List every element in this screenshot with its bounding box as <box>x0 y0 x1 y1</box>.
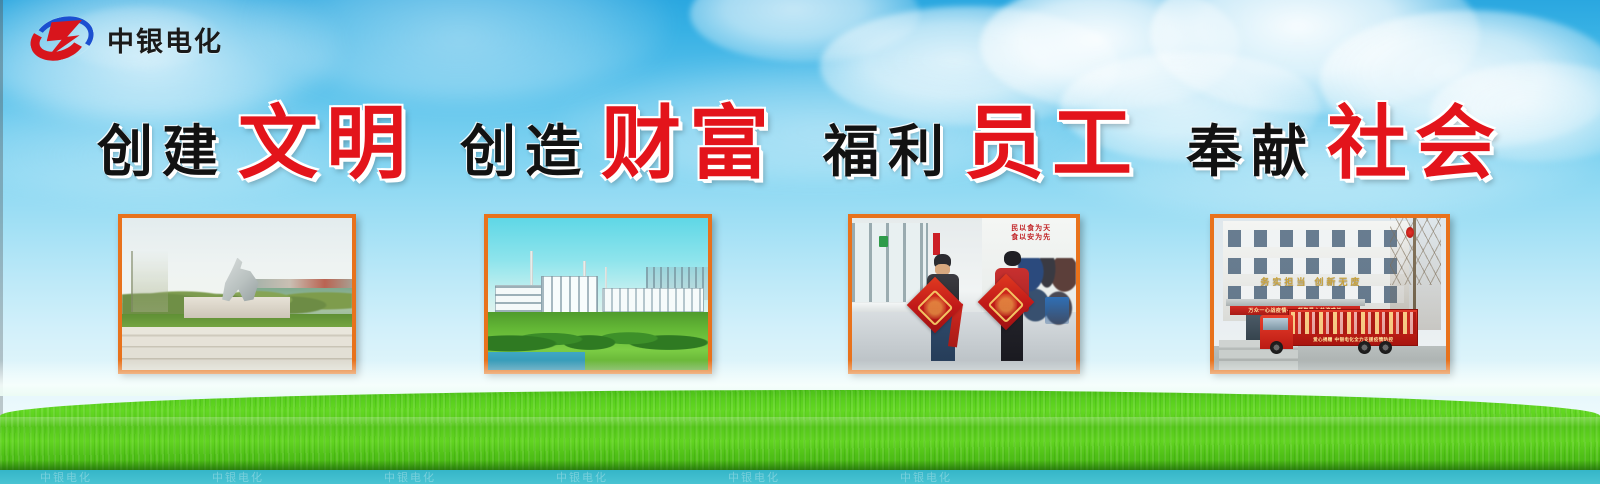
slogan-red-1: 文明 <box>238 104 414 184</box>
photo-donation-truck: 务实担当 创新无废 万众一心战疫情——凝聚爱心共渡难关 爱心捐赠 中银电化全力支… <box>1210 214 1450 374</box>
photo-3-person-right-head <box>1004 251 1021 265</box>
photo-1-image <box>122 218 352 370</box>
bottom-bar: 中银电化 中银电化 中银电化 中银电化 中银电化 中银电化 <box>0 470 1600 484</box>
left-edge-shadow <box>0 0 3 484</box>
grass-shadow <box>0 460 1600 470</box>
photo-4-truck-banner: 爱心捐赠 中银电化全力支援疫情防控 <box>1291 335 1416 344</box>
photo-4-wheel-front <box>1270 341 1283 354</box>
photo-3-red-sign <box>933 233 940 255</box>
grass-field <box>0 390 1600 470</box>
photo-4-window-row-1 <box>1228 230 1404 247</box>
photo-3-window-row <box>852 223 928 302</box>
photo-1-bare-tree <box>131 251 168 312</box>
photo-4-wheel-rear-2 <box>1379 341 1392 354</box>
slogan-black-1: 创建 <box>97 125 227 181</box>
photo-3-wall-slogan: 民以食为天 食以安为先 <box>991 224 1072 247</box>
photo-2-image <box>488 218 708 370</box>
slogan-black-3: 福利 <box>823 125 953 181</box>
photo-chemical-plant <box>484 214 712 374</box>
slogan-red-4: 社会 <box>1327 104 1503 184</box>
culture-banner-board: 中银电化 创建 文明 创造 财富 福利 员工 奉献 社会 <box>0 0 1600 484</box>
slogan-black-4: 奉献 <box>1186 125 1316 181</box>
bottom-watermark: 中银电化 中银电化 中银电化 中银电化 中银电化 中银电化 <box>0 470 1600 484</box>
watermark-text-4: 中银电化 <box>556 470 608 484</box>
slogan-red-2: 财富 <box>601 104 777 184</box>
watermark-text-2: 中银电化 <box>212 470 264 484</box>
slogan-phrase-4: 奉献 社会 <box>1186 104 1503 184</box>
company-name: 中银电化 <box>107 20 223 59</box>
photo-4-truck-windshield <box>1263 318 1289 330</box>
slogan-black-2: 创造 <box>460 125 590 181</box>
photo-3-image: 民以食为天 食以安为先 <box>852 218 1076 370</box>
photo-4-lantern <box>1406 227 1414 238</box>
company-logo: 中银电化 <box>30 14 223 64</box>
zhongyin-dianhua-logo-icon <box>30 14 96 64</box>
watermark-text-3: 中银电化 <box>384 470 436 484</box>
photo-deer-sculpture-park <box>118 214 356 374</box>
slogan-phrase-2: 创造 财富 <box>460 104 777 184</box>
photo-4-cargo <box>1291 312 1416 333</box>
slogan-phrase-3: 福利 员工 <box>823 104 1140 184</box>
photo-1-plinth <box>184 297 290 318</box>
watermark-text-1: 中银电化 <box>40 470 92 484</box>
photo-4-wheel-rear-1 <box>1358 341 1371 354</box>
photo-4-canopy <box>1226 299 1365 307</box>
slogan-red-3: 员工 <box>964 104 1140 184</box>
photo-employees-couplets: 民以食为天 食以安为先 <box>848 214 1080 374</box>
slogan-phrase-1: 创建 文明 <box>97 104 414 184</box>
photo-4-image: 务实担当 创新无废 万众一心战疫情——凝聚爱心共渡难关 爱心捐赠 中银电化全力支… <box>1214 218 1446 370</box>
watermark-text-6: 中银电化 <box>900 470 952 484</box>
slogan-row: 创建 文明 创造 财富 福利 员工 奉献 社会 <box>0 104 1600 184</box>
watermark-text-5: 中银电化 <box>728 470 780 484</box>
photo-3-green-sign <box>879 236 888 247</box>
photo-3-blue-bin <box>1045 297 1070 324</box>
photo-4-window-row-2 <box>1228 258 1404 275</box>
photo-2-shrubs <box>488 309 708 352</box>
